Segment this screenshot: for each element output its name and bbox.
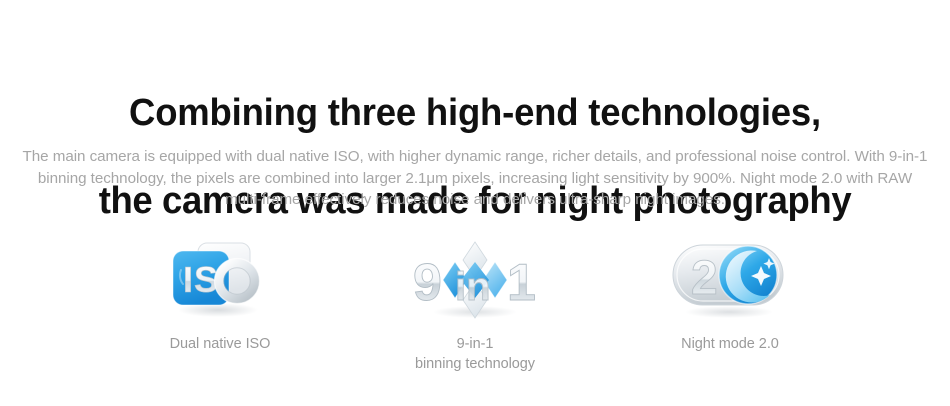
iso-badge-icon: I S [161, 236, 279, 320]
nine-in-one-icon-wrap: 9 in 1 [411, 236, 539, 320]
iso-icon-wrap: I S [161, 236, 279, 320]
svg-text:9: 9 [413, 254, 442, 312]
feature-caption: Dual native ISO [170, 334, 271, 354]
nine-in-one-icon: 9 in 1 [411, 236, 539, 320]
headline-line-1: Combining three high-end technologies, [19, 91, 931, 135]
feature-night-mode: 2 Night mode 2.0 [605, 236, 855, 354]
feature-nine-in-one: 9 in 1 9-in-1 binning technology [350, 236, 600, 374]
svg-text:I: I [183, 259, 192, 300]
feature-caption: 9-in-1 binning technology [415, 334, 535, 374]
body-paragraph: The main camera is equipped with dual na… [18, 146, 932, 211]
night-mode-moon-icon: 2 [665, 236, 795, 320]
night-mode-icon-wrap: 2 [665, 236, 795, 320]
promo-page: Combining three high-end technologies, t… [0, 0, 950, 406]
feature-caption: Night mode 2.0 [681, 334, 779, 354]
svg-text:2: 2 [691, 252, 718, 305]
svg-text:in: in [455, 265, 491, 309]
svg-text:S: S [194, 259, 217, 300]
feature-dual-native-iso: I S Dual native ISO [95, 236, 345, 354]
svg-text:1: 1 [507, 254, 536, 312]
feature-row: I S Dual native ISO [95, 236, 855, 386]
